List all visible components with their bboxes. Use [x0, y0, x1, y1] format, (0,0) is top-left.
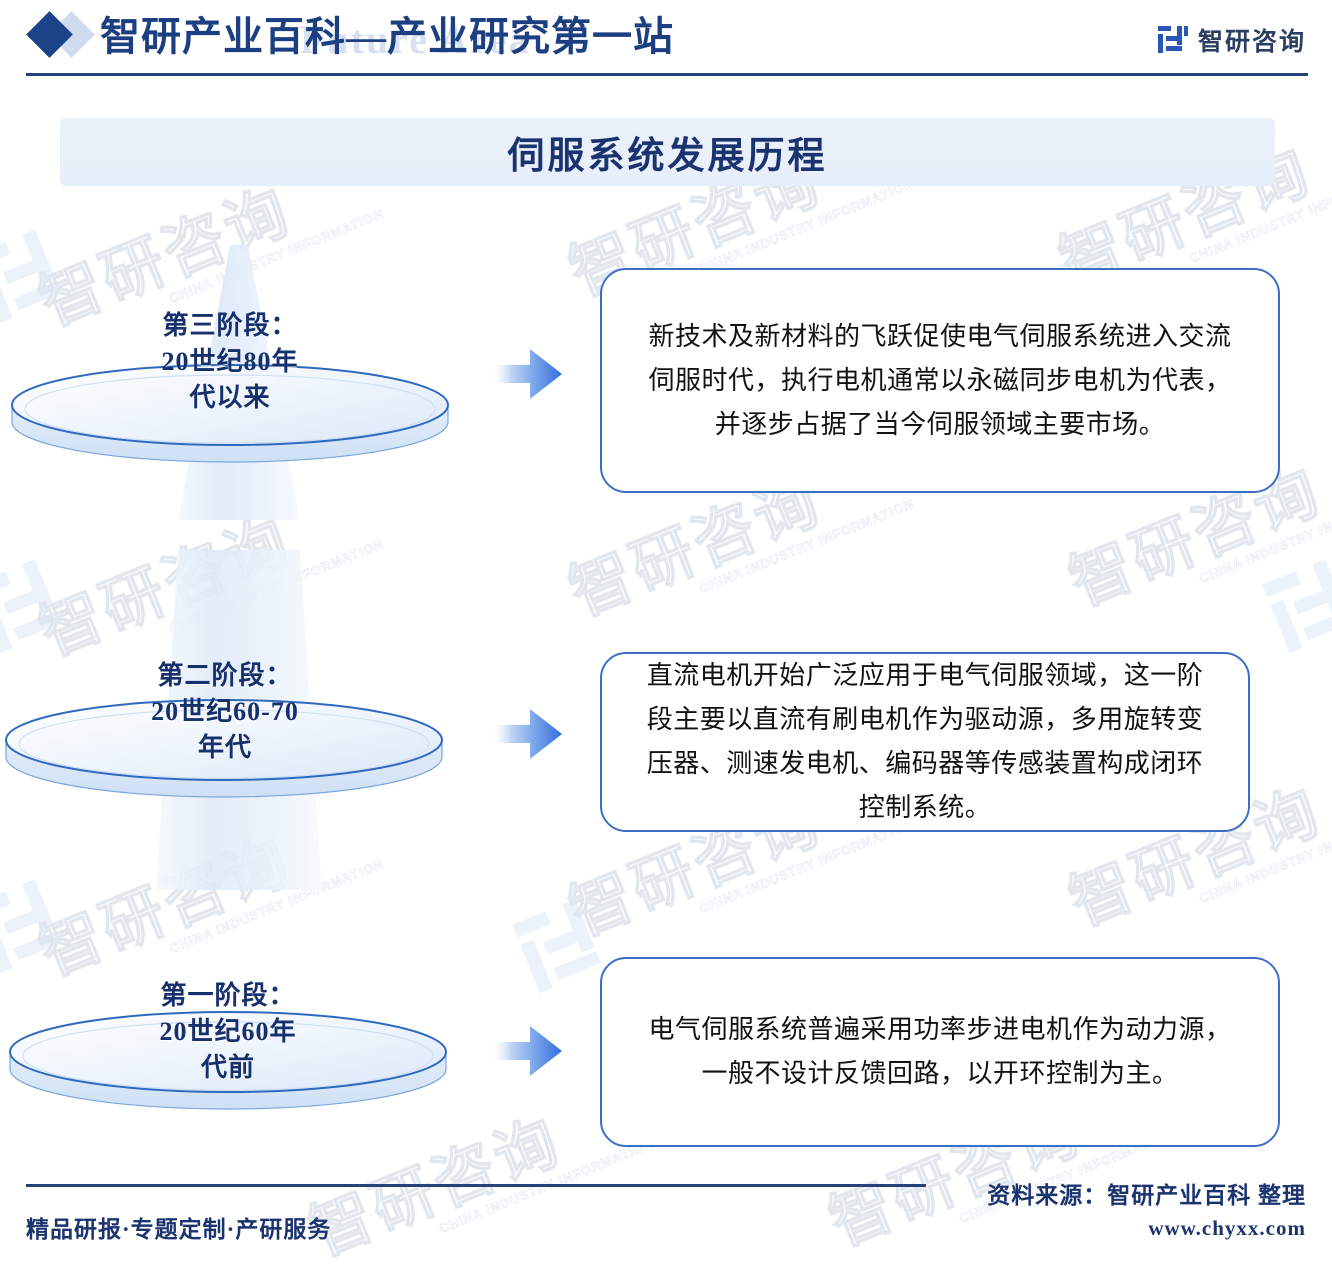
stage-description-second: 直流电机开始广泛应用于电气伺服领域，这一阶段主要以直流有刷电机作为驱动源，多用旋…: [600, 652, 1250, 832]
watermark-logo-icon: [1256, 546, 1332, 666]
footer-source: 资料来源：智研产业百科 整理: [987, 1176, 1306, 1210]
stage-label-first: 第一阶段： 20世纪60年 代前: [113, 978, 343, 1086]
stage-label-third: 第三阶段： 20世纪80年 代以来: [115, 308, 345, 416]
chart-title: 伺服系统发展历程: [60, 118, 1275, 186]
diamond-icon: [28, 13, 98, 59]
arrow-right-icon: [490, 705, 564, 763]
page-title: 智研产业百科—产业研究第一站: [100, 10, 674, 64]
brand-name: 智研咨询: [1198, 22, 1306, 58]
infographic-page: 智研咨询CHINA INDUSTRY INFORMATION 智研咨询CHINA…: [0, 0, 1332, 1280]
page-footer: 精品研报·专题定制·产研服务 资料来源：智研产业百科 整理 www.chyxx.…: [0, 1170, 1332, 1280]
header-divider: [26, 73, 1308, 76]
footer-url[interactable]: www.chyxx.com: [1148, 1216, 1306, 1241]
chart-title-banner: 伺服系统发展历程: [60, 118, 1275, 186]
footer-services: 精品研报·专题定制·产研服务: [26, 1210, 331, 1244]
footer-divider: [26, 1184, 926, 1187]
stage-description-first: 电气伺服系统普遍采用功率步进电机作为动力源，一般不设计反馈回路，以开环控制为主。: [600, 957, 1280, 1147]
stage-description-text: 直流电机开始广泛应用于电气伺服领域，这一阶段主要以直流有刷电机作为驱动源，多用旋…: [602, 654, 1248, 830]
zhiyan-logo-icon: [1157, 24, 1189, 56]
arrow-right-icon: [490, 345, 564, 403]
brand-logo: 智研咨询: [1157, 20, 1306, 60]
arrow-right-icon: [490, 1022, 564, 1080]
stage-description-text: 新技术及新材料的飞跃促使电气伺服系统进入交流伺服时代，执行电机通常以永磁同步电机…: [602, 315, 1278, 447]
stage-description-text: 电气伺服系统普遍采用功率步进电机作为动力源，一般不设计反馈回路，以开环控制为主。: [602, 1008, 1278, 1096]
stage-label-second: 第二阶段： 20世纪60-70 年代: [110, 658, 340, 766]
stage-description-third: 新技术及新材料的飞跃促使电气伺服系统进入交流伺服时代，执行电机通常以永磁同步电机…: [600, 268, 1280, 493]
page-header: Future Area 智研产业百科—产业研究第一站 智研咨询: [0, 0, 1332, 82]
